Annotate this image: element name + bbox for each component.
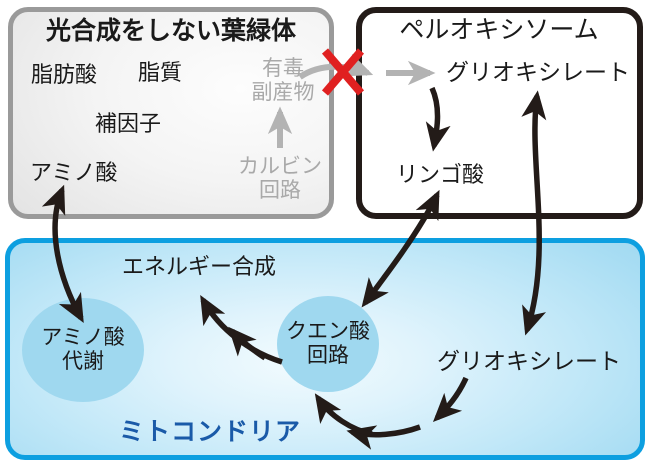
amino-metabolism-line2: 代謝 [62, 350, 104, 374]
label-glyoxylate-mitochondria: グリオキシレート [437, 349, 621, 375]
citric-cycle-line1: クエン酸 [286, 320, 370, 344]
label-calvin-cycle-line2: 回路 [238, 179, 322, 203]
amino-metabolism-line1: アミノ酸 [41, 326, 125, 350]
peroxisome-title: ペルオキシソーム [399, 16, 598, 44]
amino-acid-metabolism-bubble: アミノ酸 代謝 [22, 298, 144, 402]
label-lipid: 脂質 [138, 61, 182, 86]
label-energy-synthesis: エネルギー合成 [122, 255, 276, 280]
citric-acid-cycle-bubble: クエン酸 回路 [277, 296, 379, 392]
citric-cycle-line2: 回路 [307, 344, 349, 368]
label-malate: リンゴ酸 [396, 163, 484, 188]
label-toxic-byproduct-line1: 有毒 [252, 57, 315, 81]
label-fatty-acid: 脂肪酸 [31, 63, 97, 88]
diagram-canvas: 光合成をしない葉緑体 脂肪酸 脂質 補因子 アミノ酸 有毒 副産物 カルビン 回… [0, 0, 650, 466]
label-calvin-cycle: カルビン 回路 [238, 155, 322, 202]
label-calvin-cycle-line1: カルビン [238, 155, 322, 179]
label-toxic-byproduct: 有毒 副産物 [252, 57, 315, 104]
label-cofactor: 補因子 [95, 112, 161, 137]
label-toxic-byproduct-line2: 副産物 [252, 81, 315, 105]
mitochondria-title: ミトコンドリア [119, 418, 301, 446]
label-glyoxylate-peroxisome: グリオキシレート [446, 60, 630, 86]
chloroplast-title: 光合成をしない葉緑体 [46, 17, 296, 45]
label-amino-acid: アミノ酸 [30, 161, 118, 186]
